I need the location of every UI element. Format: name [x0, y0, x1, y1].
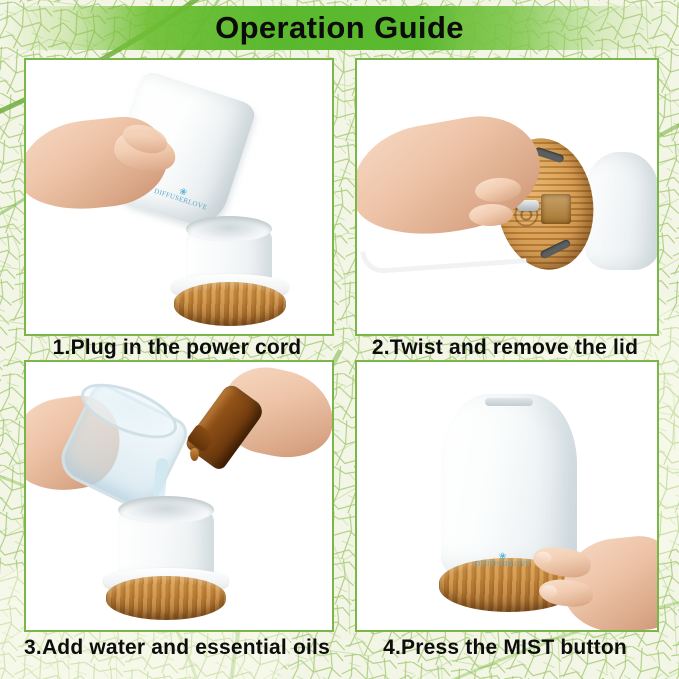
tank-rim [118, 496, 214, 524]
step-1-image: ❀ DIFFUSERLOVE [24, 58, 334, 336]
brand-logo: ❀ DIFFUSERLOVE [153, 179, 211, 211]
fingernail [541, 584, 558, 598]
step-1-caption: 1.Plug in the power cord [24, 336, 330, 360]
step-4-image: ❀ DIFFUSERLOVE [355, 360, 659, 632]
white-body [585, 152, 659, 270]
fingernail [535, 550, 553, 565]
step-2-scene [357, 60, 657, 334]
page-title: Operation Guide [0, 6, 679, 50]
flower-leaf-icon: ❀ [178, 187, 188, 198]
tank-rim [186, 216, 272, 242]
step-3-caption: 3.Add water and essential oils [24, 636, 330, 660]
step-2-caption: 2.Twist and remove the lid [355, 336, 655, 360]
wood-base [106, 576, 226, 620]
oil-drop [190, 448, 199, 461]
step-3-image [24, 360, 334, 632]
step-1-scene: ❀ DIFFUSERLOVE [26, 60, 332, 334]
step-2-image [355, 58, 659, 336]
brand-name: DIFFUSERLOVE [475, 561, 530, 568]
operation-guide-page: Operation Guide ❀ DIFFUSERLOVE 1.Plug in… [0, 0, 679, 679]
step-3-scene [26, 362, 332, 630]
wood-base [174, 282, 286, 326]
flower-leaf-icon: ❀ [499, 552, 507, 561]
power-jack [541, 194, 571, 224]
step-4-scene: ❀ DIFFUSERLOVE [357, 362, 657, 630]
brand-logo: ❀ DIFFUSERLOVE [475, 552, 530, 568]
power-cord [360, 240, 526, 274]
step-4-caption: 4.Press the MIST button [355, 636, 655, 660]
air-slot-bottom [539, 238, 571, 259]
mist-vent [485, 398, 533, 406]
